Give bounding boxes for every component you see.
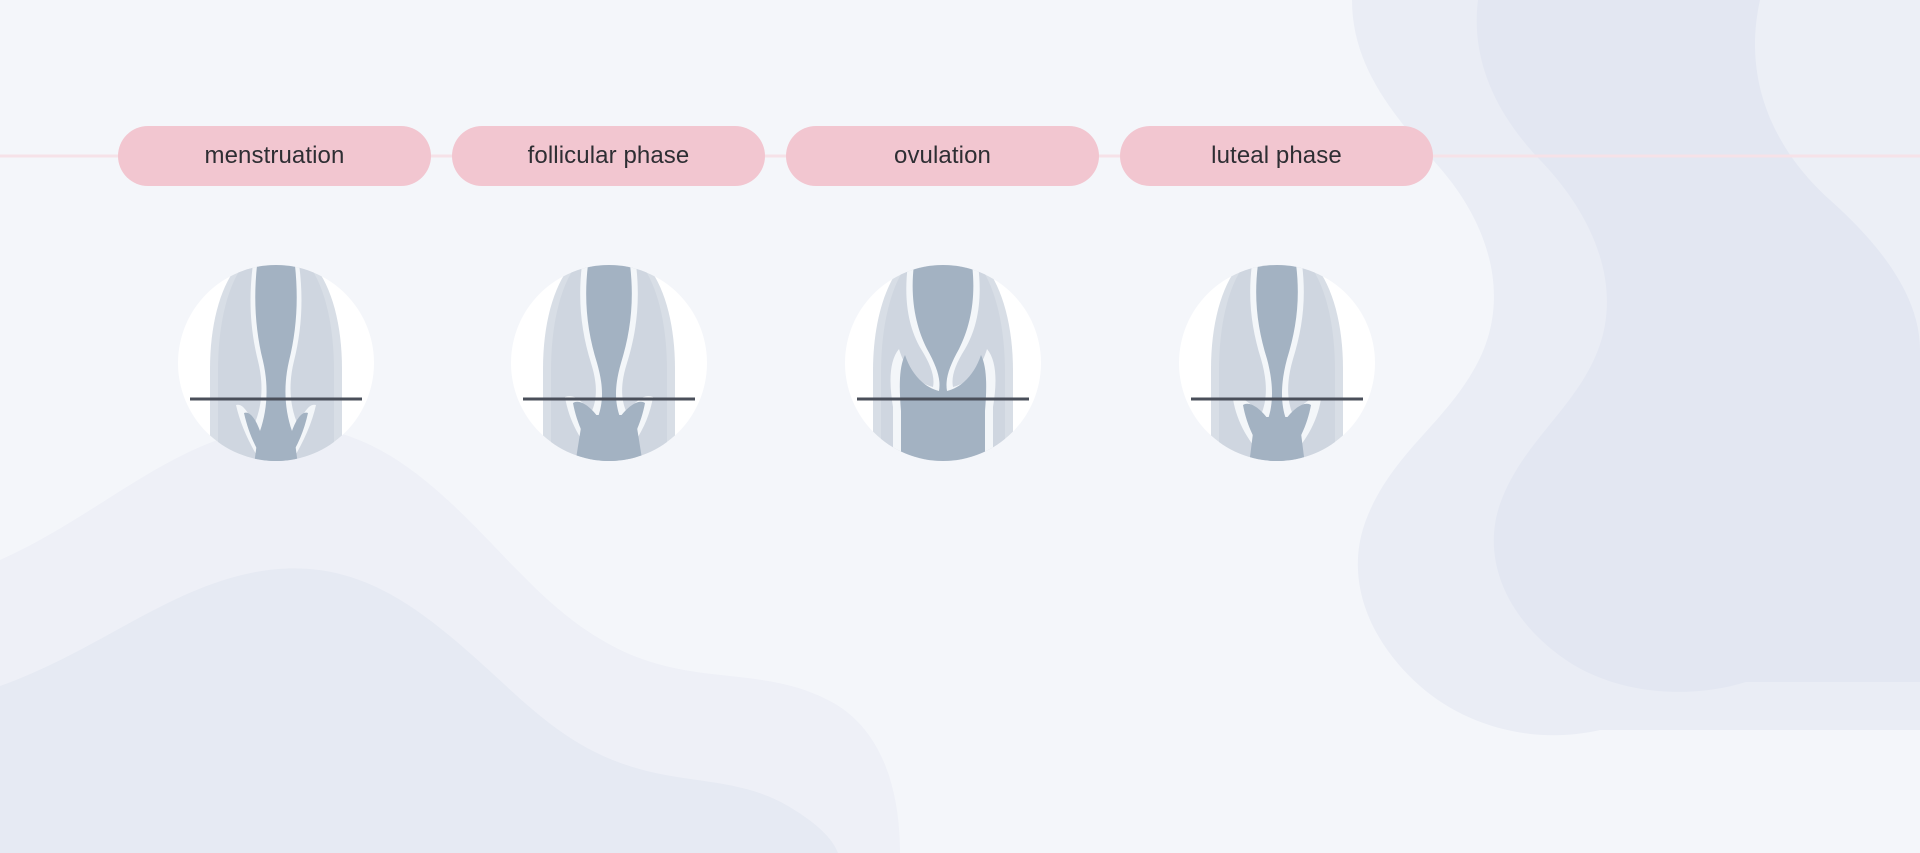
illustration-canvas: menstruation follicular phase ovulation … [0,0,1920,853]
phase-pill-label: menstruation [205,142,345,170]
cervical-os-opening [1249,417,1305,461]
cervix-figure-menstruation [178,265,374,461]
phase-pill-row: menstruation follicular phase ovulation … [0,126,1920,186]
phase-pill-follicular-phase[interactable]: follicular phase [452,126,765,186]
phase-pill-label: ovulation [894,142,991,170]
cervical-os-opening [575,415,643,461]
phase-pill-menstruation[interactable]: menstruation [118,126,431,186]
cervix-figure-follicular-phase [511,265,707,461]
phase-pill-label: follicular phase [528,142,690,170]
phase-pill-ovulation[interactable]: ovulation [786,126,1099,186]
cervix-figure-ovulation [845,265,1041,461]
phase-pill-label: luteal phase [1211,142,1342,170]
phase-pill-luteal-phase[interactable]: luteal phase [1120,126,1433,186]
cervical-os-opening [254,435,298,461]
cervix-figure-luteal-phase [1179,265,1375,461]
